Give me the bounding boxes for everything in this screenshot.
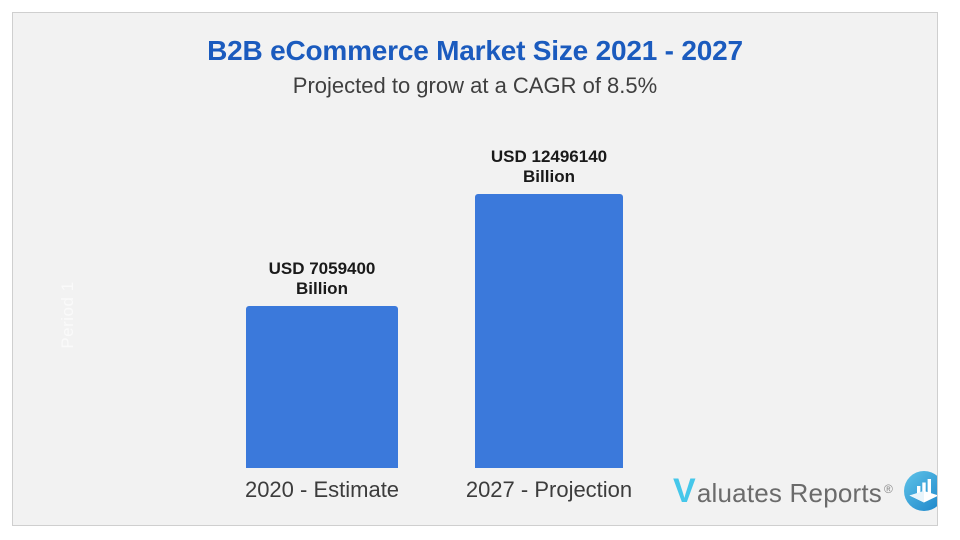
valuates-reports-logo: V aluates Reports ®: [673, 469, 938, 513]
logo-wordmark: V aluates Reports ®: [673, 474, 893, 509]
bar-value-label: USD 7059400 Billion: [269, 259, 376, 300]
bar-value-label-line1: USD 12496140: [491, 147, 607, 166]
logo-text: aluates Reports: [697, 478, 882, 509]
valuates-circle-chart-icon: [903, 470, 938, 512]
bar-rect[interactable]: [246, 306, 398, 468]
x-axis-label-2020: 2020 - Estimate: [245, 477, 399, 503]
bar-value-label: USD 12496140 Billion: [491, 147, 607, 188]
x-axis-label-2027: 2027 - Projection: [466, 477, 632, 503]
chart-card: B2B eCommerce Market Size 2021 - 2027 Pr…: [12, 12, 938, 526]
registered-trademark-symbol: ®: [884, 482, 893, 496]
bar-value-label-line2: Billion: [523, 167, 575, 186]
y-axis-title: Period 1: [58, 255, 78, 375]
logo-initial-v: V: [673, 474, 696, 508]
plot-area: Period 1 USD 7059400 Billion 2020 - Esti…: [13, 13, 938, 526]
bar-2020-estimate[interactable]: USD 7059400 Billion 2020 - Estimate: [246, 306, 398, 468]
bar-2027-projection[interactable]: USD 12496140 Billion 2027 - Projection: [475, 194, 623, 468]
bar-rect[interactable]: [475, 194, 623, 468]
bar-value-label-line2: Billion: [296, 279, 348, 298]
bar-value-label-line1: USD 7059400: [269, 259, 376, 278]
